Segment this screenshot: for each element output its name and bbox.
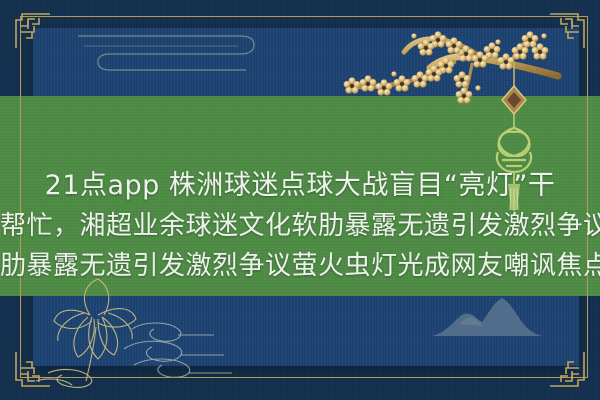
headline-line-2: 帮忙，湘超业余球迷文化软肋暴露无遗引发激烈争议 [0,206,600,246]
corner-fret-bottom-left-icon [12,350,52,390]
headline-line-1: 21点app 株洲球迷点球大战盲目“亮灯”干 [0,166,600,206]
cloud-wave-motif [124,323,232,377]
mountain-silhouette [432,294,542,336]
headline-text: 21点app 株洲球迷点球大战盲目“亮灯”干 帮忙，湘超业余球迷文化软肋暴露无遗… [0,166,600,286]
lotus-line-art [28,277,268,392]
headline-line-3: 肋暴露无遗引发激烈争议萤火虫灯光成网友嘲讽焦点 [0,246,600,286]
corner-fret-top-left-icon [12,10,52,50]
corner-fret-bottom-right-icon [548,350,588,390]
corner-fret-top-right-icon [548,10,588,50]
ribbon-scroll-motif [70,24,270,74]
banner-image: 21点app 株洲球迷点球大战盲目“亮灯”干 帮忙，湘超业余球迷文化软肋暴露无遗… [0,0,600,400]
